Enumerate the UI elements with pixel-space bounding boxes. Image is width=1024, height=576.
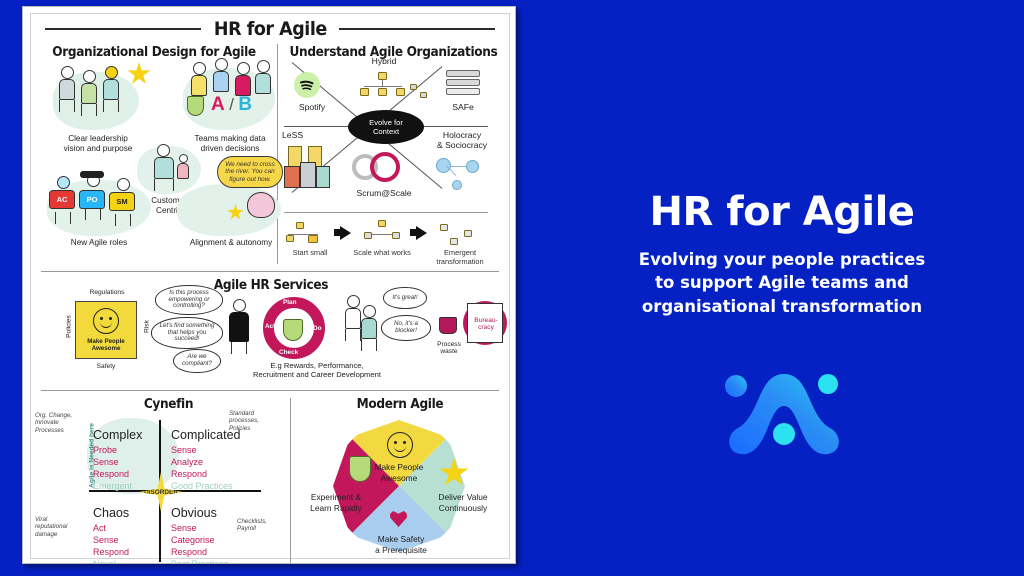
make-people-awesome-box: Make People Awesome <box>75 301 137 359</box>
evolve-line-2: Context <box>373 127 399 136</box>
ma-label-deliver-value: Deliver Value Continuously <box>425 492 501 513</box>
section-agile-hr-services: Agile HR Services Regulations Make Peopl… <box>31 275 509 387</box>
cynefin-step-complex-3: Respond <box>93 468 129 481</box>
model-label-hybrid: Hybrid <box>344 56 424 66</box>
cynefin-title-obvious: Obvious <box>171 506 217 520</box>
model-label-spotify: Spotify <box>284 102 340 112</box>
band-top: Organizational Design for Agile Clear le… <box>31 40 509 268</box>
services-bubble-3: Are we compliant? <box>173 349 221 373</box>
evolve-line-1: Evolve for <box>369 118 403 127</box>
pdca-label-do: Do <box>313 325 322 332</box>
section-org-design-title: Organizational Design for Agile <box>43 44 264 60</box>
section-understand-agile: Understand Agile Organizations Hybrid <box>278 40 509 268</box>
cynefin-step-obvious-2: Categorise <box>171 534 215 547</box>
ab-label-slash: / <box>229 95 234 114</box>
journey-arrow-2 <box>416 226 427 240</box>
ma-flask-icon <box>349 456 371 482</box>
journey-node-2 <box>286 235 294 242</box>
journey-label-start-small: Start small <box>284 248 336 257</box>
cynefin-step-chaos-2: Sense <box>93 534 119 547</box>
model-label-holocracy: Holocracy & Sociocracy <box>426 130 498 151</box>
less-icon-block-3 <box>316 166 330 188</box>
services-label-policies: Policies <box>66 305 73 349</box>
divider-services-top <box>41 271 499 272</box>
subtitle-line-3: organisational transformation <box>560 295 1004 318</box>
services-label-regulations: Regulations <box>67 289 147 296</box>
spotify-icon <box>294 72 320 98</box>
journey-node-5 <box>364 232 372 239</box>
section-org-design: Organizational Design for Agile Clear le… <box>31 40 277 268</box>
cynefin-outcome-complex: Emergent <box>93 480 132 493</box>
infographic-card: HR for Agile Organizational Design for A… <box>22 6 516 564</box>
cynefin-title-chaos: Chaos <box>93 506 129 520</box>
cynefin-step-complex-2: Sense <box>93 456 119 469</box>
evolve-for-context-badge: Evolve for Context <box>348 110 424 144</box>
cynefin-outcome-chaos: Novel <box>93 558 116 564</box>
hybrid-node-c <box>396 88 405 96</box>
cynefin-step-obvious-1: Sense <box>171 522 197 535</box>
ma-label-make-safety: Make Safety a Prerequisite <box>365 534 437 555</box>
subtitle-line-2: to support Agile teams and <box>560 271 1004 294</box>
services-bubble-2: Let's find something that helps you succ… <box>151 317 223 349</box>
journey-arrow-1 <box>340 226 351 240</box>
journey-node-6 <box>392 232 400 239</box>
role-badge-sm: SM <box>109 192 135 211</box>
journey-node-8 <box>464 230 472 237</box>
hybrid-node-root <box>378 72 387 80</box>
title-rule-left <box>45 28 201 30</box>
services-bubble-5: No, it's a blocker! <box>381 315 431 341</box>
pdca-flask-icon <box>283 319 303 341</box>
divider-bottom-band <box>41 390 499 391</box>
infographic-inner-frame: HR for Agile Organizational Design for A… <box>30 13 510 559</box>
services-bubble-4: It's great! <box>383 287 427 309</box>
cynefin-step-obvious-3: Respond <box>171 546 207 559</box>
cynefin-note-chaos: Viral reputational damage <box>35 516 87 538</box>
caption-clear-leadership: Clear leadership vision and purpose <box>43 134 153 154</box>
ab-label-b: B <box>238 94 252 115</box>
cynefin-step-complicated-2: Analyze <box>171 456 203 469</box>
hybrid-node-a <box>360 88 369 96</box>
less-icon-block-2 <box>300 162 316 188</box>
section-cynefin: Cynefin DISORDER Org. Change, Innovate P… <box>31 394 290 564</box>
cynefin-step-chaos-3: Respond <box>93 546 129 559</box>
hybrid-node-net-2 <box>420 92 427 98</box>
trash-bin-icon <box>439 317 457 334</box>
make-people-awesome-label: Make People Awesome <box>87 338 125 352</box>
cynefin-note-obvious: Checklists, Payroll <box>237 518 285 533</box>
caption-new-agile-roles: New Agile roles <box>47 238 151 248</box>
role-badge-po: PO <box>79 190 105 209</box>
model-label-safe: SAFe <box>434 102 492 112</box>
journey-divider <box>284 212 488 213</box>
process-waste-label: Process waste <box>429 341 469 355</box>
cynefin-step-chaos-1: Act <box>93 522 106 535</box>
ma-label-make-people-awesome: Make People Awesome <box>363 462 435 483</box>
journey-node-3 <box>308 235 318 243</box>
infographic-title-bar: HR for Agile <box>31 18 509 40</box>
scrum-ring-pink <box>370 152 400 182</box>
logo-node-right <box>818 374 838 394</box>
journey-label-scale-what-works: Scale what works <box>350 248 414 257</box>
section-modern-agile: Modern Agile Make People Awesome Deliver… <box>291 394 509 564</box>
ma-smiley-icon <box>387 432 413 458</box>
cynefin-step-complicated-1: Sense <box>171 444 197 457</box>
page-subtitle: Evolving your people practices to suppor… <box>560 248 1004 318</box>
holocracy-line-1 <box>450 166 468 167</box>
model-label-scrum-at-scale: Scrum@Scale <box>336 188 432 198</box>
infographic-title: HR for Agile <box>214 18 327 40</box>
page-title: HR for Agile <box>540 189 1024 235</box>
journey-label-emergent-transformation: Emergent transformation <box>422 248 498 266</box>
pdca-label-act: Act <box>265 323 275 330</box>
cynefin-step-complex-1: Probe <box>93 444 117 457</box>
cynefin-step-complicated-3: Respond <box>171 468 207 481</box>
caption-teams-data-driven: Teams making data driven decisions <box>177 134 283 154</box>
alignment-person-icon <box>247 192 275 218</box>
safe-icon <box>446 70 480 97</box>
hybrid-line-2 <box>364 86 402 87</box>
ab-label-a: A <box>211 94 225 115</box>
hybrid-node-net-1 <box>410 84 417 90</box>
bureaucracy-label: Bureau- cracy <box>469 317 503 331</box>
ab-flask-icon <box>187 96 204 116</box>
cynefin-outcome-complicated: Good Practices <box>171 480 233 493</box>
holocracy-circle-1 <box>436 158 451 173</box>
journey-node-9 <box>450 238 458 245</box>
smiley-icon <box>93 308 119 334</box>
journey-node-1 <box>296 222 304 229</box>
hybrid-node-b <box>378 88 387 96</box>
journey-node-4 <box>378 220 386 227</box>
cynefin-title-complex: Complex <box>93 428 142 442</box>
cynefin-outcome-obvious: Best Practises <box>171 558 229 564</box>
title-rule-right <box>339 28 495 30</box>
alignment-speech-bubble: We need to cross the river. You can figu… <box>217 156 283 188</box>
ma-label-experiment-learn: Experiment & Learn Rapidly <box>299 492 373 513</box>
cynefin-title-complicated: Complicated <box>171 428 240 442</box>
pdca-label-check: Check <box>279 349 298 356</box>
molecule-a-logo <box>706 366 862 462</box>
model-label-less: LeSS <box>282 130 332 140</box>
subtitle-line-1: Evolving your people practices <box>560 248 1004 271</box>
title-panel: HR for Agile Evolving your people practi… <box>540 0 1024 576</box>
less-icon-block-1 <box>284 166 300 188</box>
caption-alignment-autonomy: Alignment & autonomy <box>177 238 285 248</box>
holocracy-circle-3 <box>452 180 462 190</box>
services-label-risk: Risk <box>144 305 151 349</box>
journey-node-7 <box>440 224 448 231</box>
services-label-safety: Safety <box>75 363 137 370</box>
services-bubble-1: Is this process empowering or controllin… <box>155 285 223 315</box>
logo-node-left <box>725 375 747 397</box>
services-footer-caption: E.g Rewards, Performance, Recruitment an… <box>229 361 405 380</box>
pdca-label-plan: Plan <box>283 299 297 306</box>
role-badge-ac: AC <box>49 190 75 209</box>
section-modern-agile-title: Modern Agile <box>302 396 498 412</box>
logo-node-center <box>773 423 795 445</box>
band-bottom: Cynefin DISORDER Org. Change, Innovate P… <box>31 394 509 564</box>
cynefin-note-complex: Org. Change, Innovate Processes <box>35 412 87 434</box>
